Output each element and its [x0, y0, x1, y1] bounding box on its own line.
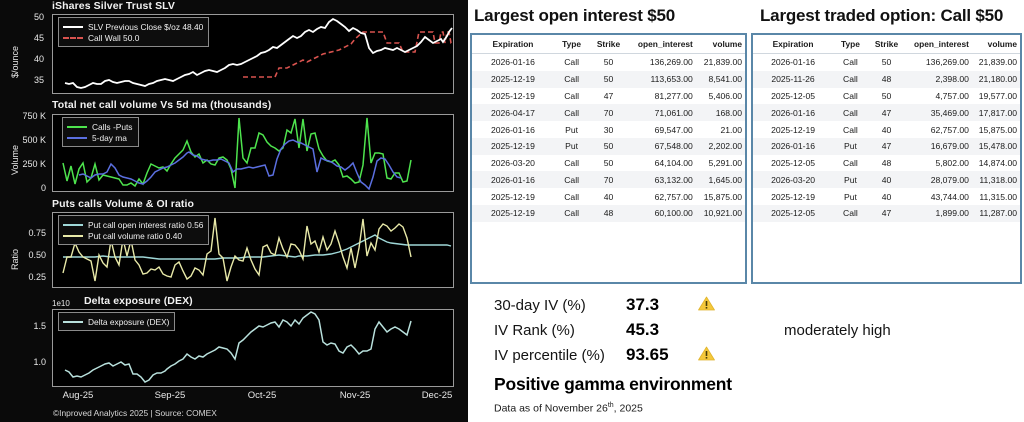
legend-item-pc-vol-ratio: Put call volume ratio 0.40: [63, 230, 203, 241]
cell-volume: 15,875.00: [972, 121, 1020, 138]
legend-item-pc-oi-ratio: Put call open interest ratio 0.56: [63, 219, 203, 230]
cell-volume: 21.00: [696, 121, 745, 138]
legend-item-dex: Delta exposure (DEX): [63, 316, 169, 327]
table-header-row: Expiration Type Strike open_interest vol…: [472, 35, 745, 54]
traded-option-table: Expiration Type Strike open_interest vol…: [753, 35, 1020, 222]
metric-warning-slot-iv-percentile: [698, 345, 784, 365]
chart-panel-delta-exposure: 1e10 Delta exposure (DEX) 1.5 1.0 Delta …: [0, 293, 468, 422]
cell-expiration: 2026-03-20: [472, 155, 554, 172]
y-axis-label-volume: Volume: [10, 145, 20, 175]
cell-open-interest: 113,653.00: [628, 71, 696, 88]
cell-open-interest: 81,277.00: [628, 88, 696, 105]
table-row[interactable]: 2025-12-19Call4860,100.0010,921.00: [472, 205, 745, 222]
legend-line-icon-teal: [63, 224, 83, 226]
metric-row-iv-rank: IV Rank (%) 45.3 moderately high: [494, 320, 1014, 345]
table-row[interactable]: 2025-12-19Put5067,548.002,202.00: [472, 138, 745, 155]
table-row[interactable]: 2026-03-20Put4028,079.0011,318.00: [753, 171, 1020, 188]
cell-type: Call: [833, 88, 868, 105]
cell-strike: 50: [589, 71, 627, 88]
cell-open-interest: 5,802.00: [905, 155, 972, 172]
chart-title-delta-exposure: Delta exposure (DEX): [84, 295, 193, 307]
cell-expiration: 2025-12-05: [753, 88, 833, 105]
chart-title-slv: iShares Silver Trust SLV: [52, 0, 175, 12]
cell-type: Call: [554, 155, 589, 172]
cell-strike: 40: [868, 188, 905, 205]
metric-value-iv-percentile: 93.65: [626, 345, 698, 365]
cell-expiration: 2025-12-05: [753, 155, 833, 172]
y-tick-price-45: 45: [34, 33, 44, 43]
chart-title-net-call-volume: Total net call volume Vs 5d ma (thousand…: [52, 99, 271, 111]
cell-type: Put: [833, 171, 868, 188]
y-tick-price-50: 50: [34, 12, 44, 22]
x-tick-oct25: Oct-25: [232, 390, 292, 401]
cell-volume: 11,315.00: [972, 188, 1020, 205]
table-largest-traded-option[interactable]: Expiration Type Strike open_interest vol…: [751, 33, 1022, 284]
cell-volume: 21,839.00: [972, 54, 1020, 71]
cell-type: Call: [554, 104, 589, 121]
y-axis-label-ratio: Ratio: [10, 249, 20, 270]
cell-volume: 15,478.00: [972, 138, 1020, 155]
metric-label-iv-percentile: IV percentile (%): [494, 347, 626, 364]
cell-type: Put: [554, 121, 589, 138]
table-row[interactable]: 2025-12-05Call504,757.0019,577.00: [753, 88, 1020, 105]
cell-type: Call: [833, 205, 868, 222]
cell-volume: 168.00: [696, 104, 745, 121]
cell-strike: 50: [868, 88, 905, 105]
cell-strike: 40: [868, 121, 905, 138]
table-title-open-interest: Largest open interest $50: [474, 6, 675, 26]
cell-open-interest: 2,398.00: [905, 71, 972, 88]
cell-volume: 1,645.00: [696, 171, 745, 188]
y-tick-vol-500k: 500 K: [22, 135, 46, 145]
cell-type: Call: [554, 54, 589, 71]
table-row[interactable]: 2025-11-26Call482,398.0021,180.00: [753, 71, 1020, 88]
y-tick-vol-750k: 750 K: [22, 111, 46, 121]
cell-strike: 47: [868, 205, 905, 222]
chart-panel-slv-price: iShares Silver Trust SLV $/ounce 50 45 4…: [0, 0, 468, 100]
cell-type: Call: [833, 155, 868, 172]
legend-label-5day-ma: 5-day ma: [92, 133, 127, 143]
figure-credit: ©Inproved Analytics 2025 | Source: COMEX: [53, 408, 217, 418]
cell-strike: 48: [868, 155, 905, 172]
cell-open-interest: 69,547.00: [628, 121, 696, 138]
y-tick-ratio-025: 0.25: [28, 272, 46, 282]
iv-metrics-block: 30-day IV (%) 37.3 IV Rank (%) 45.3 mode…: [494, 295, 1014, 415]
cell-strike: 70: [589, 104, 627, 121]
cell-expiration: 2025-12-19: [472, 188, 554, 205]
y-tick-ratio-075: 0.75: [28, 228, 46, 238]
cell-expiration: 2025-12-19: [472, 71, 554, 88]
cell-type: Put: [833, 138, 868, 155]
metric-value-30day-iv: 37.3: [626, 295, 698, 315]
options-charts-figure: iShares Silver Trust SLV $/ounce 50 45 4…: [0, 0, 468, 422]
legend-item-5day-ma: 5-day ma: [67, 132, 133, 143]
x-tick-sep25: Sep-25: [140, 390, 200, 401]
cell-expiration: 2025-11-26: [753, 71, 833, 88]
x-tick-aug25: Aug-25: [48, 390, 108, 401]
cell-volume: 5,291.00: [696, 155, 745, 172]
y-tick-ratio-050: 0.50: [28, 250, 46, 260]
table-header-row: Expiration Type Strike open_interest vol…: [753, 35, 1020, 54]
legend-label-pc-oi-ratio: Put call open interest ratio 0.56: [88, 220, 203, 230]
legend-put-call-ratio: Put call open interest ratio 0.56 Put ca…: [58, 215, 209, 245]
warning-triangle-icon: [698, 346, 715, 366]
cell-type: Call: [554, 205, 589, 222]
legend-delta-exposure: Delta exposure (DEX): [58, 312, 175, 331]
cell-open-interest: 64,104.00: [628, 155, 696, 172]
cell-volume: 15,875.00: [696, 188, 745, 205]
open-interest-table: Expiration Type Strike open_interest vol…: [472, 35, 745, 222]
y-tick-price-40: 40: [34, 54, 44, 64]
cell-strike: 47: [589, 88, 627, 105]
cell-expiration: 2026-01-16: [472, 121, 554, 138]
x-tick-nov25: Nov-25: [325, 390, 385, 401]
y-tick-vol-250k: 250 K: [22, 159, 46, 169]
metric-label-30day-iv: 30-day IV (%): [494, 297, 626, 314]
table-row[interactable]: 2026-01-16Put3069,547.0021.00: [472, 121, 745, 138]
cell-strike: 30: [589, 121, 627, 138]
table-row[interactable]: 2026-01-16Call50136,269.0021,839.00: [753, 54, 1020, 71]
y-tick-price-35: 35: [34, 75, 44, 85]
cell-expiration: 2025-12-19: [472, 138, 554, 155]
col-open-interest[interactable]: open_interest: [628, 35, 696, 54]
table-row[interactable]: 2025-12-19Call4062,757.0015,875.00: [472, 188, 745, 205]
col-volume[interactable]: volume: [696, 35, 745, 54]
right-panel: Largest open interest $50 Largest traded…: [468, 0, 1024, 422]
cell-strike: 50: [589, 138, 627, 155]
col-strike[interactable]: Strike: [868, 35, 905, 54]
col-volume[interactable]: volume: [972, 35, 1020, 54]
cell-open-interest: 63,132.00: [628, 171, 696, 188]
cell-expiration: 2025-12-19: [753, 121, 833, 138]
chart-title-put-call-ratio: Puts calls Volume & OI ratio: [52, 198, 194, 210]
y-tick-dex-10: 1.0: [33, 357, 46, 367]
cell-open-interest: 67,548.00: [628, 138, 696, 155]
legend-net-call-volume: Calls -Puts 5-day ma: [62, 117, 139, 147]
cell-open-interest: 16,679.00: [905, 138, 972, 155]
legend-item-calls-puts: Calls -Puts: [67, 121, 133, 132]
cell-expiration: 2025-12-19: [472, 88, 554, 105]
table-row[interactable]: 2025-12-05Call471,899.0011,287.00: [753, 205, 1020, 222]
cell-volume: 21,180.00: [972, 71, 1020, 88]
cell-expiration: 2026-01-16: [753, 54, 833, 71]
table-row[interactable]: 2025-12-05Call485,802.0014,874.00: [753, 155, 1020, 172]
cell-strike: 50: [589, 54, 627, 71]
table-row[interactable]: 2025-12-19Call4062,757.0015,875.00: [753, 121, 1020, 138]
cell-volume: 8,541.00: [696, 71, 745, 88]
legend-label-calls-puts: Calls -Puts: [92, 122, 133, 132]
gamma-environment-text: Positive gamma environment: [494, 374, 1014, 395]
cell-volume: 11,318.00: [972, 171, 1020, 188]
cell-volume: 21,839.00: [696, 54, 745, 71]
cell-type: Call: [554, 88, 589, 105]
legend-dashed-line-icon-red: [63, 37, 83, 39]
cell-open-interest: 60,100.00: [628, 205, 696, 222]
cell-type: Call: [833, 121, 868, 138]
cell-strike: 47: [868, 104, 905, 121]
cell-strike: 48: [868, 71, 905, 88]
as-of-date: Data as of November 26th, 2025: [494, 402, 1014, 415]
col-open-interest[interactable]: open_interest: [905, 35, 972, 54]
metric-row-30day-iv: 30-day IV (%) 37.3: [494, 295, 1014, 320]
col-type[interactable]: Type: [554, 35, 589, 54]
cell-open-interest: 1,899.00: [905, 205, 972, 222]
cell-volume: 19,577.00: [972, 88, 1020, 105]
y-tick-dex-15: 1.5: [33, 321, 46, 331]
col-strike[interactable]: Strike: [589, 35, 627, 54]
cell-strike: 40: [868, 171, 905, 188]
y-axis-label-price: $/ounce: [10, 46, 20, 78]
col-expiration[interactable]: Expiration: [753, 35, 833, 54]
col-expiration[interactable]: Expiration: [472, 35, 554, 54]
cell-volume: 14,874.00: [972, 155, 1020, 172]
legend-line-icon-yellow: [63, 235, 83, 237]
cell-strike: 47: [868, 138, 905, 155]
metric-note-moderately-high: moderately high: [784, 322, 891, 339]
col-type[interactable]: Type: [833, 35, 868, 54]
open-interest-table-body: 2026-01-16Call50136,269.0021,839.00 2025…: [472, 54, 745, 222]
table-row[interactable]: 2025-12-19Call4781,277.005,406.00: [472, 88, 745, 105]
cell-volume: 2,202.00: [696, 138, 745, 155]
cell-expiration: 2026-01-16: [472, 54, 554, 71]
cell-strike: 50: [589, 155, 627, 172]
cell-expiration: 2025-12-19: [472, 205, 554, 222]
cell-open-interest: 62,757.00: [628, 188, 696, 205]
cell-volume: 11,287.00: [972, 205, 1020, 222]
cell-open-interest: 71,061.00: [628, 104, 696, 121]
traded-option-table-body: 2026-01-16Call50136,269.0021,839.00 2025…: [753, 54, 1020, 222]
cell-expiration: 2025-12-05: [753, 205, 833, 222]
cell-type: Put: [554, 138, 589, 155]
as-of-prefix: Data as of November 26: [494, 403, 608, 415]
table-row[interactable]: 2026-04-17Call7071,061.00168.00: [472, 104, 745, 121]
y-tick-vol-0: 0: [41, 183, 46, 193]
legend-label-dex: Delta exposure (DEX): [88, 317, 169, 327]
cell-type: Call: [833, 104, 868, 121]
table-row[interactable]: 2025-12-19Put4043,744.0011,315.00: [753, 188, 1020, 205]
legend-line-icon-blue: [67, 137, 87, 139]
legend-item-slv-close: SLV Previous Close $/oz 48.40: [63, 21, 203, 32]
cell-type: Call: [554, 188, 589, 205]
cell-type: Call: [554, 171, 589, 188]
cell-volume: 17,817.00: [972, 104, 1020, 121]
legend-label-pc-vol-ratio: Put call volume ratio 0.40: [88, 231, 182, 241]
cell-open-interest: 4,757.00: [905, 88, 972, 105]
cell-open-interest: 62,757.00: [905, 121, 972, 138]
cell-volume: 5,406.00: [696, 88, 745, 105]
cell-expiration: 2026-01-16: [753, 104, 833, 121]
cell-type: Call: [833, 71, 868, 88]
chart-panel-put-call-ratio: Puts calls Volume & OI ratio Ratio 0.75 …: [0, 198, 468, 294]
legend-item-call-wall: Call Wall 50.0: [63, 32, 203, 43]
cell-strike: 50: [868, 54, 905, 71]
legend-slv-price: SLV Previous Close $/oz 48.40 Call Wall …: [58, 17, 209, 47]
cell-open-interest: 136,269.00: [628, 54, 696, 71]
table-row[interactable]: 2026-01-16Call4735,469.0017,817.00: [753, 104, 1020, 121]
cell-expiration: 2025-12-19: [753, 188, 833, 205]
cell-type: Put: [833, 188, 868, 205]
cell-open-interest: 43,744.00: [905, 188, 972, 205]
cell-open-interest: 35,469.00: [905, 104, 972, 121]
cell-type: Call: [554, 71, 589, 88]
cell-strike: 70: [589, 171, 627, 188]
table-row[interactable]: 2026-01-16Put4716,679.0015,478.00: [753, 138, 1020, 155]
cell-strike: 48: [589, 205, 627, 222]
metric-warning-slot-30day-iv: [698, 295, 784, 315]
cell-expiration: 2026-03-20: [753, 171, 833, 188]
legend-line-icon-green: [67, 126, 87, 128]
y-axis-exponent-dex: 1e10: [52, 299, 70, 308]
cell-open-interest: 28,079.00: [905, 171, 972, 188]
legend-line-icon-lightteal: [63, 321, 83, 323]
cell-volume: 10,921.00: [696, 205, 745, 222]
table-largest-open-interest[interactable]: Expiration Type Strike open_interest vol…: [470, 33, 747, 284]
metric-row-iv-percentile: IV percentile (%) 93.65: [494, 345, 1014, 370]
table-row[interactable]: 2026-01-16Call50136,269.0021,839.00: [472, 54, 745, 71]
cell-expiration: 2026-01-16: [472, 171, 554, 188]
legend-line-icon-white: [63, 26, 83, 28]
cell-expiration: 2026-01-16: [753, 138, 833, 155]
legend-label-slv-close: SLV Previous Close $/oz 48.40: [88, 22, 203, 32]
table-row[interactable]: 2026-03-20Call5064,104.005,291.00: [472, 155, 745, 172]
warning-triangle-icon: [698, 296, 715, 316]
table-title-traded-option: Largest traded option: Call $50: [760, 6, 1003, 26]
cell-strike: 40: [589, 188, 627, 205]
table-row[interactable]: 2026-01-16Call7063,132.001,645.00: [472, 171, 745, 188]
cell-expiration: 2026-04-17: [472, 104, 554, 121]
table-row[interactable]: 2025-12-19Call50113,653.008,541.00: [472, 71, 745, 88]
metric-value-iv-rank: 45.3: [626, 320, 698, 340]
cell-type: Call: [833, 54, 868, 71]
chart-panel-net-call-volume: Total net call volume Vs 5d ma (thousand…: [0, 99, 468, 199]
cell-open-interest: 136,269.00: [905, 54, 972, 71]
x-tick-dec25: Dec-25: [408, 390, 466, 401]
metric-label-iv-rank: IV Rank (%): [494, 322, 626, 339]
as-of-year: , 2025: [614, 403, 643, 415]
legend-label-call-wall: Call Wall 50.0: [88, 33, 139, 43]
